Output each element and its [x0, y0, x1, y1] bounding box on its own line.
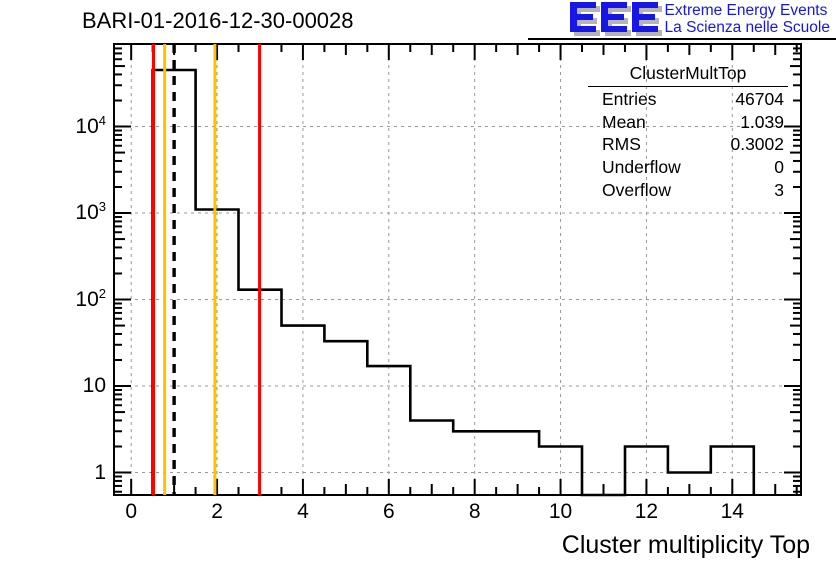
x-tick-label: 10 — [549, 500, 572, 524]
y-tick-label: 1 — [94, 461, 106, 485]
stats-value: 46704 — [735, 88, 784, 111]
x-tick-label: 4 — [297, 500, 309, 524]
stats-key: RMS — [602, 133, 641, 156]
stats-key: Overflow — [602, 179, 671, 202]
plot-canvas: BARI-01-2016-12-30-00028 — [0, 0, 836, 572]
threshold-lines — [154, 44, 260, 495]
stats-key: Entries — [602, 88, 656, 111]
stats-key: Underflow — [602, 156, 681, 179]
stats-value: 1.039 — [740, 111, 784, 134]
y-tick-label: 104 — [75, 115, 106, 139]
stats-rows: Entries46704Mean1.039RMS0.3002Underflow0… — [588, 88, 788, 202]
stats-value: 0.3002 — [730, 133, 784, 156]
x-tick-label: 14 — [721, 500, 744, 524]
stats-row: Overflow3 — [588, 179, 788, 202]
x-tick-label: 12 — [635, 500, 658, 524]
stats-row: Entries46704 — [588, 88, 788, 111]
y-tick-label: 103 — [75, 201, 106, 225]
y-tick-label: 102 — [75, 288, 106, 312]
stats-row: Underflow0 — [588, 156, 788, 179]
x-tick-label: 6 — [383, 500, 395, 524]
x-tick-label: 2 — [211, 500, 223, 524]
stats-value: 3 — [774, 179, 784, 202]
x-axis-title: Cluster multiplicity Top — [562, 531, 810, 560]
stats-row: RMS0.3002 — [588, 133, 788, 156]
y-tick-label: 10 — [83, 374, 106, 398]
stats-title: ClusterMultTop — [588, 62, 788, 87]
stats-box[interactable]: ClusterMultTop Entries46704Mean1.039RMS0… — [588, 62, 788, 202]
stats-row: Mean1.039 — [588, 111, 788, 134]
x-tick-label: 8 — [469, 500, 481, 524]
stats-value: 0 — [774, 156, 784, 179]
x-tick-label: 0 — [125, 500, 137, 524]
y-axis-labels: 110102103104 — [0, 0, 106, 572]
stats-key: Mean — [602, 111, 646, 134]
